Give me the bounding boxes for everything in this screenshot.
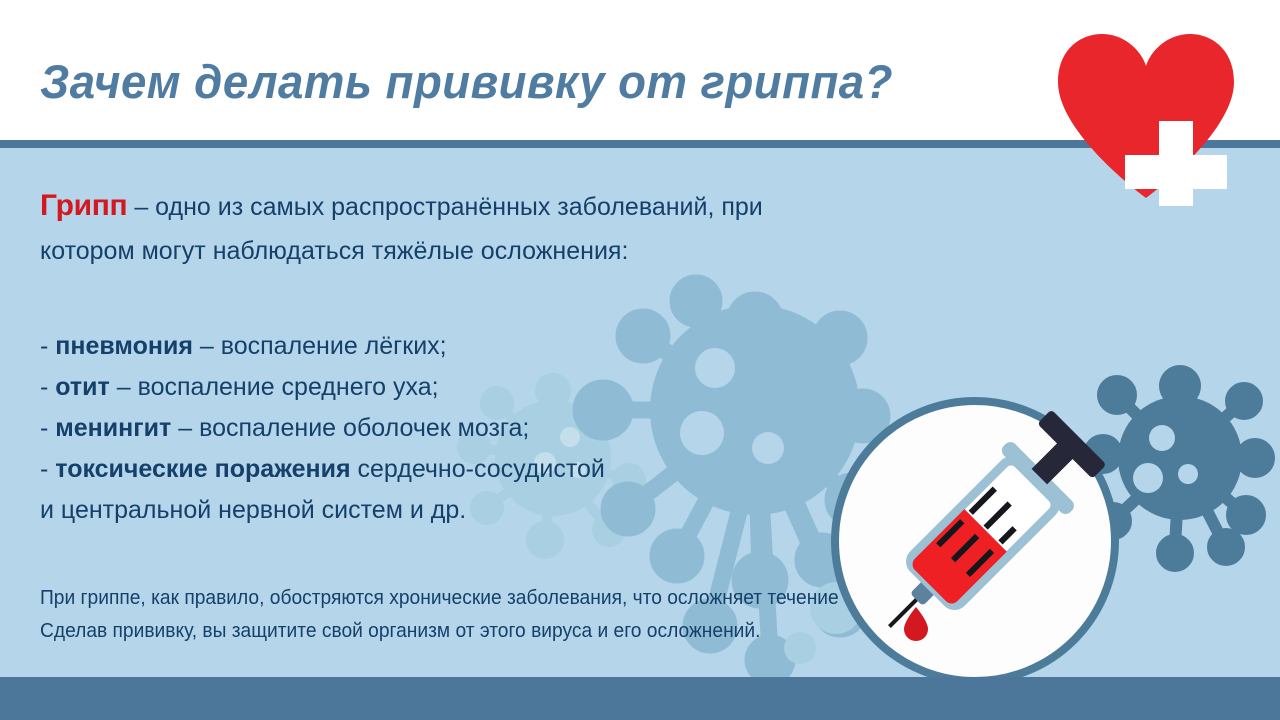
list-item-text: и центральной нервной систем и др. — [40, 496, 466, 524]
list-item-text: сердечно-сосудистой — [351, 455, 605, 483]
heart-logo — [1046, 26, 1246, 206]
lead-paragraph: Грипп – одно из самых распространённых з… — [40, 184, 780, 273]
list-item-text: – воспаление среднего уха; — [110, 373, 439, 401]
list-item-dash: - — [40, 455, 55, 483]
list-item-dash: - — [40, 373, 55, 401]
list-item: и центральной нервной систем и др. — [40, 490, 760, 531]
poster-root: Зачем делать прививку от гриппа? — [0, 0, 1280, 720]
list-item: - токсические поражения сердечно-сосудис… — [40, 449, 760, 490]
list-item: - менингит – воспаление оболочек мозга; — [40, 408, 760, 449]
list-item-term: токсические поражения — [55, 455, 350, 483]
complications-list: - пневмония – воспаление лёгких; - отит … — [40, 326, 760, 531]
list-item-term: менингит — [55, 414, 171, 442]
list-item-term: отит — [55, 373, 110, 401]
list-item: - пневмония – воспаление лёгких; — [40, 326, 760, 367]
body-panel: Грипп – одно из самых распространённых з… — [0, 148, 1280, 677]
list-item-text: – воспаление лёгких; — [193, 332, 447, 360]
list-item: - отит – воспаление среднего уха; — [40, 367, 760, 408]
list-item-dash: - — [40, 332, 55, 360]
list-item-text: – воспаление оболочек мозга; — [171, 414, 529, 442]
lead-rest: – одно из самых распространённых заболев… — [40, 193, 763, 265]
list-item-term: пневмония — [55, 332, 193, 360]
list-item-dash: - — [40, 414, 55, 442]
syringe-medallion — [828, 394, 1122, 677]
footer-bar — [0, 677, 1280, 720]
page-title: Зачем делать прививку от гриппа? — [40, 54, 1029, 109]
lead-keyword: Грипп — [40, 189, 127, 222]
